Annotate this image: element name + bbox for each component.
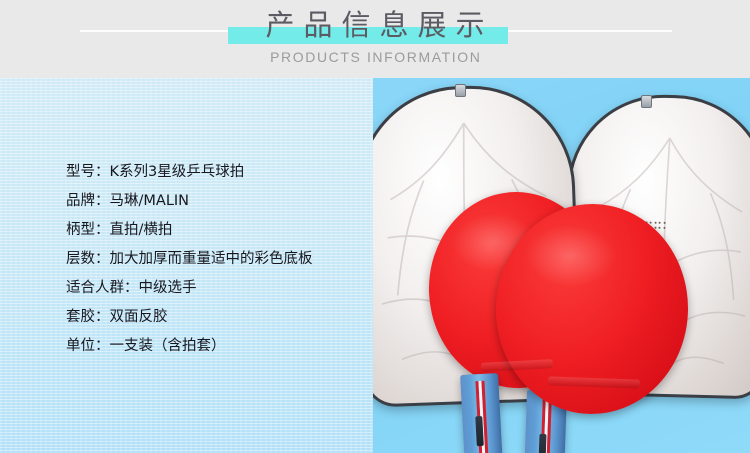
product-spec-list: 型号：K系列3星级乒乓球拍 品牌：马琳/MALIN 柄型：直拍/横拍 层数：加大… [66,158,366,361]
product-photo [373,78,750,453]
page-subtitle: PRODUCTS INFORMATION [0,48,750,66]
spec-item-grip-type: 柄型：直拍/横拍 [66,216,366,245]
banner-content: 型号：K系列3星级乒乓球拍 品牌：马琳/MALIN 柄型：直拍/横拍 层数：加大… [0,78,750,453]
zipper-pull-back-icon [641,95,652,108]
spec-item-brand: 品牌：马琳/MALIN [66,187,366,216]
page-title: 产品信息展示 [0,9,750,41]
spec-item-layers: 层数：加大加厚而重量适中的彩色底板 [66,245,366,274]
spec-item-unit: 单位：一支装（含拍套） [66,332,366,361]
spec-item-model: 型号：K系列3星级乒乓球拍 [66,158,366,187]
spec-item-audience: 适合人群：中级选手 [66,274,366,303]
paddle-handle-back-icon [460,373,504,453]
zipper-pull-front-icon [455,84,466,97]
product-info-banner: 产品信息展示 PRODUCTS INFORMATION 型号：K系列3星级乒乓球… [0,0,750,453]
product-spec-panel: 型号：K系列3星级乒乓球拍 品牌：马琳/MALIN 柄型：直拍/横拍 层数：加大… [0,78,373,453]
banner-header: 产品信息展示 PRODUCTS INFORMATION [0,0,750,78]
spec-item-rubber: 套胶：双面反胶 [66,303,366,332]
